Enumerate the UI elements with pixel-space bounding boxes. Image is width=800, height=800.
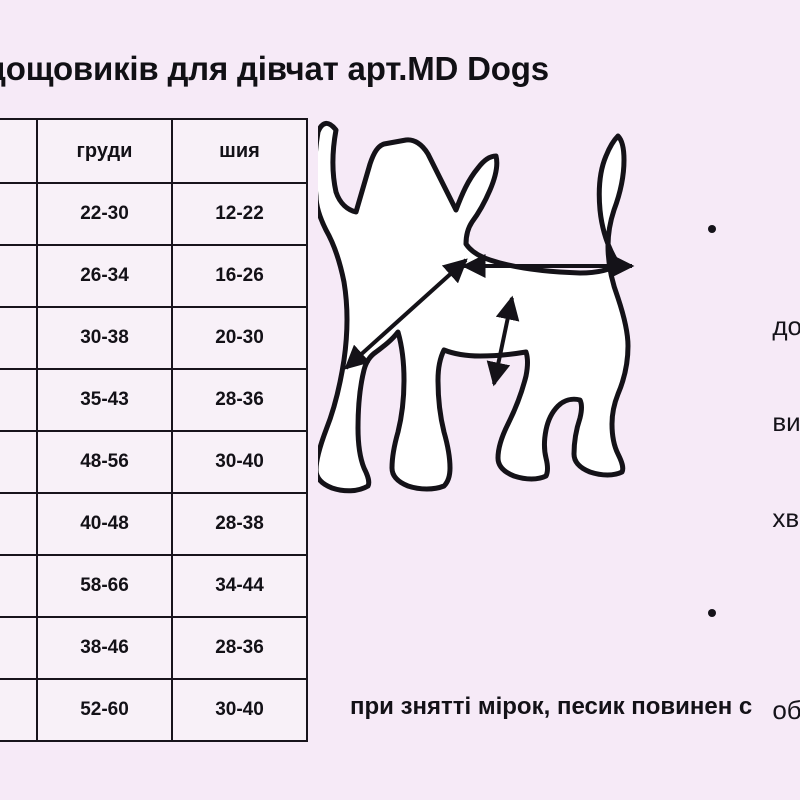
measurement-instructions: при знятті мірок, песик повинен с лапках… xyxy=(350,602,800,800)
note-line: хвости xyxy=(772,503,800,533)
size-table: а груди шия 22-30 12-22 26-34 16-26 xyxy=(0,118,308,742)
cell-size xyxy=(0,493,37,555)
footnote-line: при знятті мірок, песик повинен с xyxy=(350,686,800,728)
dog-silhouette xyxy=(318,123,628,490)
cell-neck: 30-40 xyxy=(172,679,307,741)
table-row: 26-34 16-26 xyxy=(0,245,307,307)
bullet-icon xyxy=(708,225,716,233)
table-header-row: а груди шия xyxy=(0,119,307,183)
cell-chest: 26-34 xyxy=(37,245,172,307)
cell-chest: 22-30 xyxy=(37,183,172,245)
table-row: 30-38 20-30 xyxy=(0,307,307,369)
cell-chest: 30-38 xyxy=(37,307,172,369)
table-row: 22-30 12-22 xyxy=(0,183,307,245)
list-item: довжи вимір хвости xyxy=(703,206,800,590)
cell-neck: 28-36 xyxy=(172,369,307,431)
column-header-size: а xyxy=(0,119,37,183)
note-line: довжи xyxy=(772,311,800,341)
table-row: 52-60 30-40 xyxy=(0,679,307,741)
size-table-body: 22-30 12-22 26-34 16-26 30-38 20-30 35-4… xyxy=(0,183,307,741)
cell-neck: 34-44 xyxy=(172,555,307,617)
column-header-neck: шия xyxy=(172,119,307,183)
cell-chest: 52-60 xyxy=(37,679,172,741)
note-line: вимір xyxy=(772,407,800,437)
cell-neck: 28-36 xyxy=(172,617,307,679)
cell-chest: 58-66 xyxy=(37,555,172,617)
cell-neck: 30-40 xyxy=(172,431,307,493)
cell-neck: 12-22 xyxy=(172,183,307,245)
dog-measurement-diagram xyxy=(318,118,718,523)
table-row: 48-56 30-40 xyxy=(0,431,307,493)
cell-chest: 48-56 xyxy=(37,431,172,493)
table-row: 58-66 34-44 xyxy=(0,555,307,617)
cell-size xyxy=(0,183,37,245)
table-row: 38-46 28-36 xyxy=(0,617,307,679)
cell-chest: 38-46 xyxy=(37,617,172,679)
table-row: 35-43 28-36 xyxy=(0,369,307,431)
page-title: и дощовиків для дівчат арт.MD Dogs xyxy=(0,46,800,92)
column-header-chest: груди xyxy=(37,119,172,183)
cell-chest: 40-48 xyxy=(37,493,172,555)
size-chart-page: и дощовиків для дівчат арт.MD Dogs а гру… xyxy=(0,0,800,800)
table-row: 40-48 28-38 xyxy=(0,493,307,555)
cell-size xyxy=(0,307,37,369)
cell-neck: 16-26 xyxy=(172,245,307,307)
size-table-container: а груди шия 22-30 12-22 26-34 16-26 xyxy=(0,118,306,742)
cell-size xyxy=(0,369,37,431)
cell-chest: 35-43 xyxy=(37,369,172,431)
cell-size xyxy=(0,617,37,679)
cell-size xyxy=(0,555,37,617)
cell-size xyxy=(0,245,37,307)
cell-size xyxy=(0,431,37,493)
cell-neck: 28-38 xyxy=(172,493,307,555)
cell-neck: 20-30 xyxy=(172,307,307,369)
cell-size xyxy=(0,679,37,741)
